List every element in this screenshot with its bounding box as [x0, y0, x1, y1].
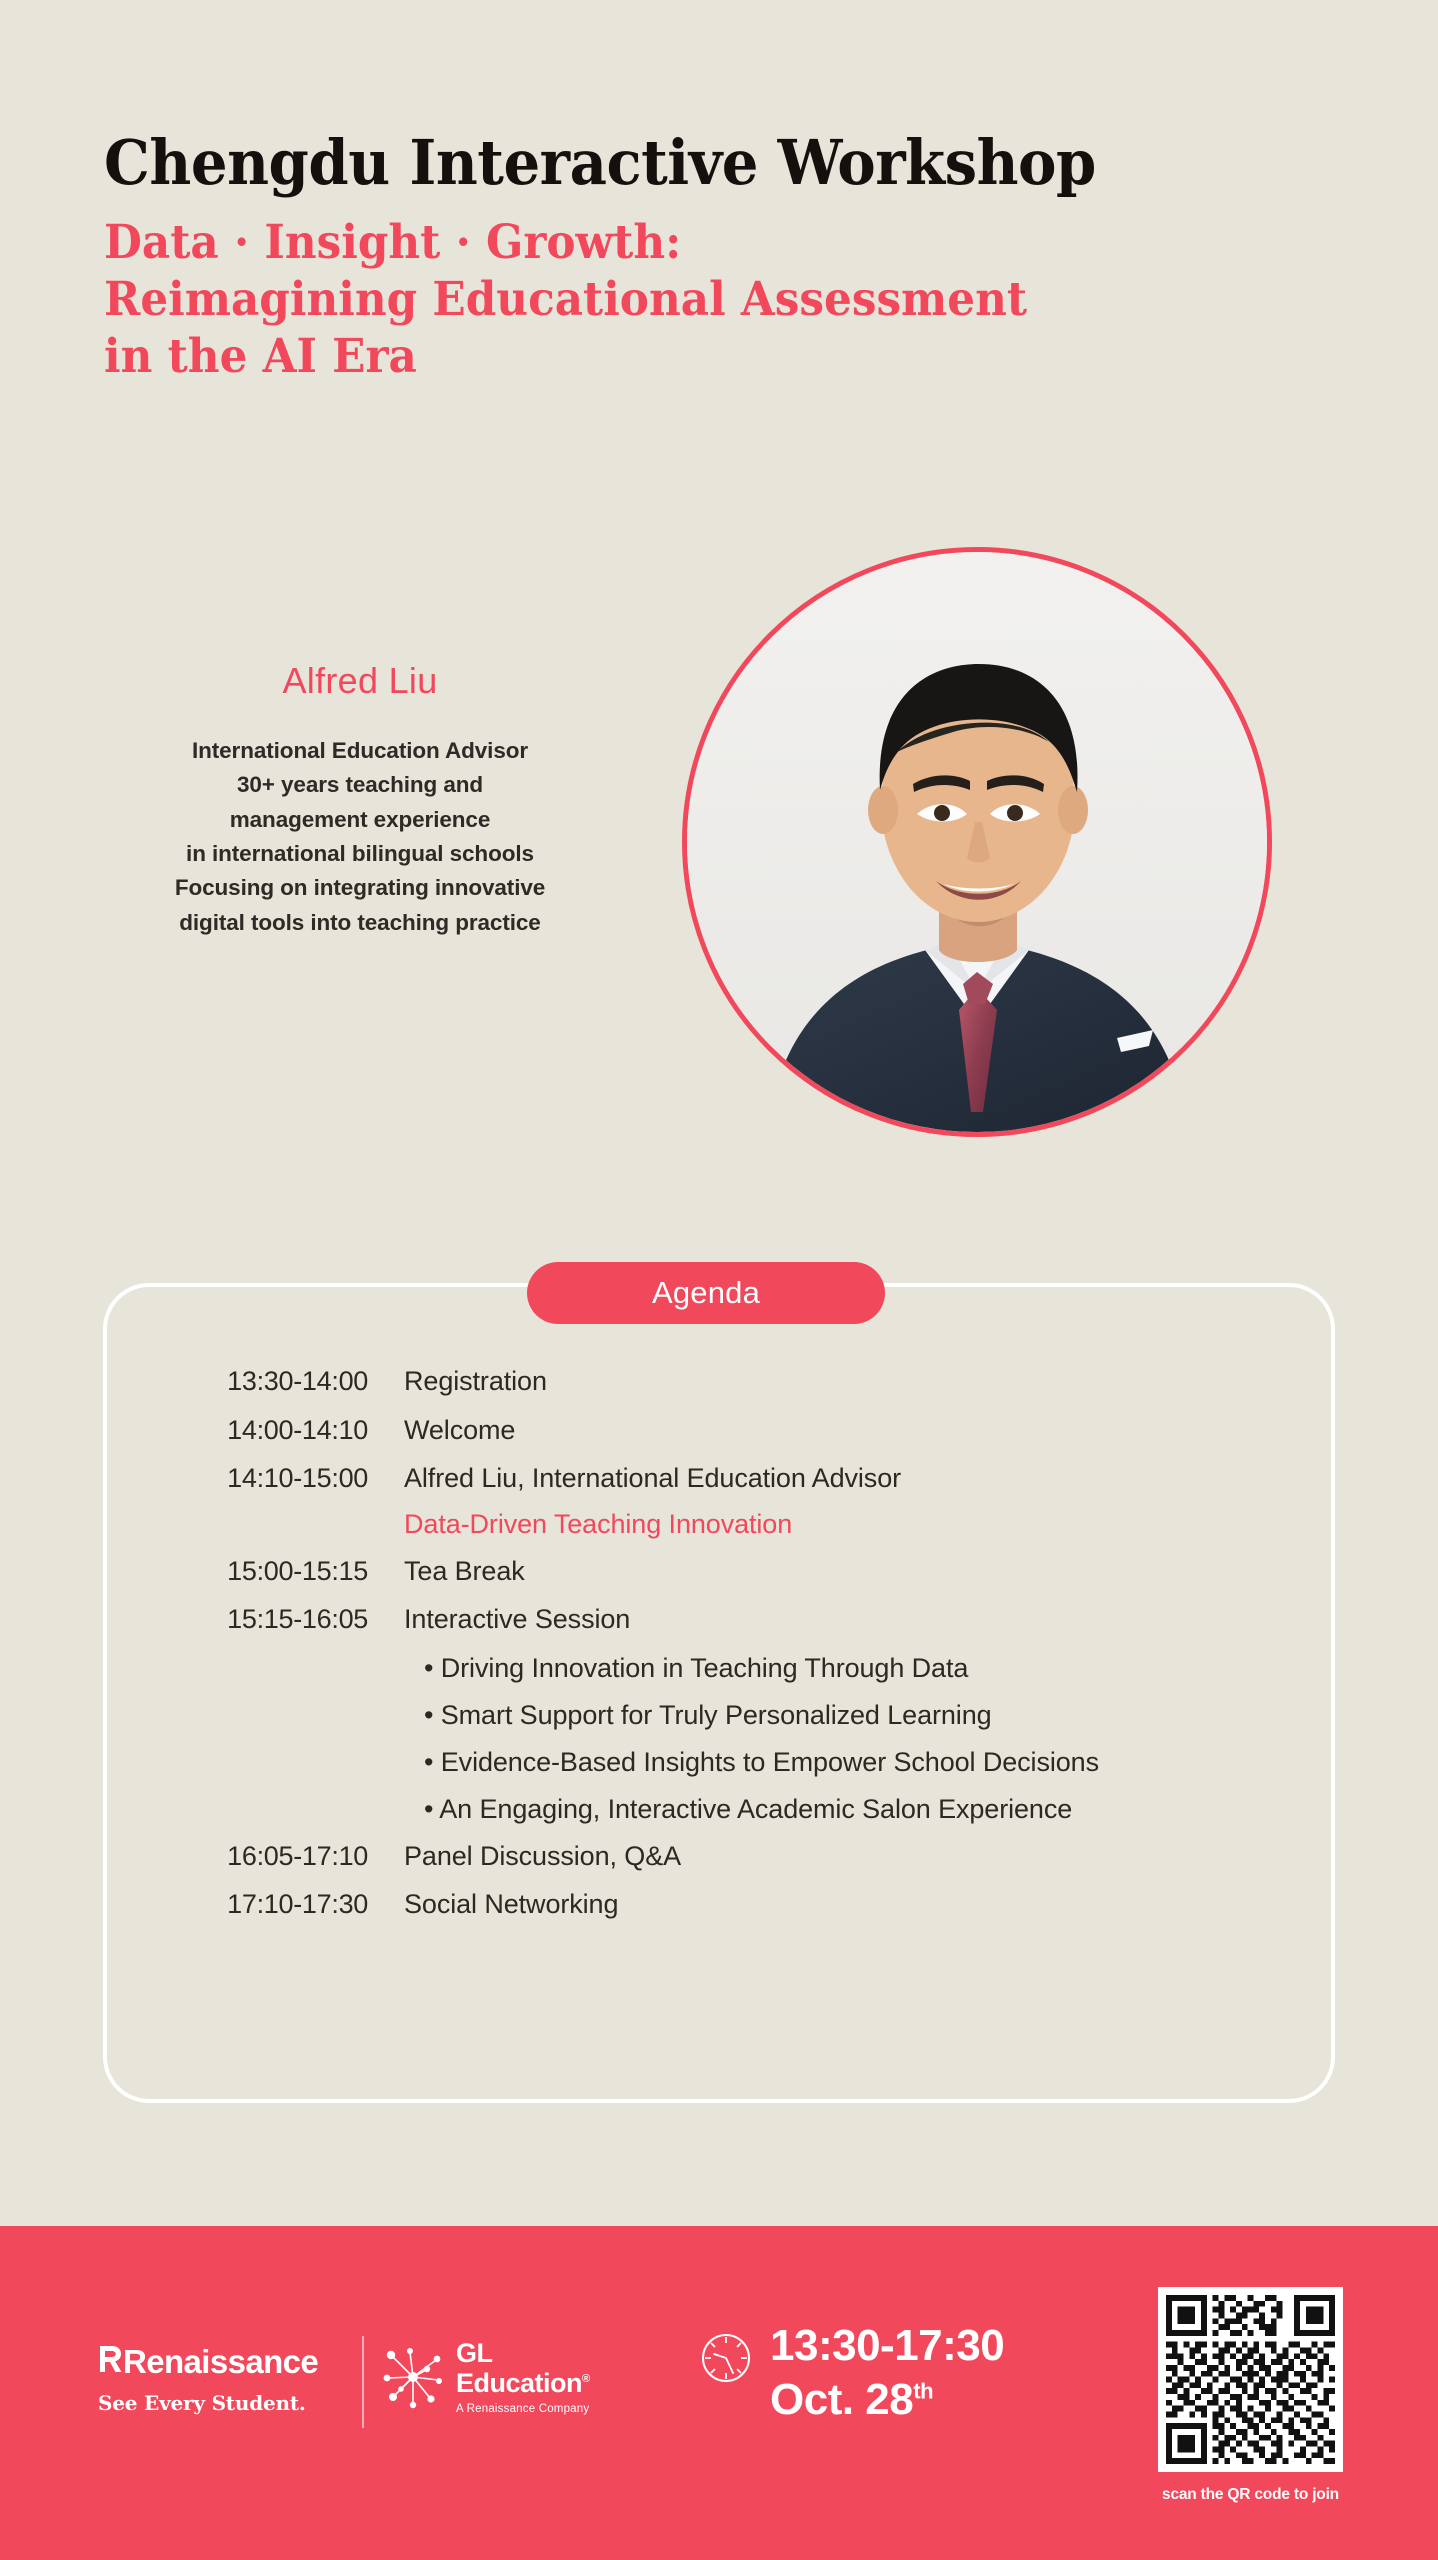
- clock-icon: [700, 2332, 752, 2384]
- page-title: Chengdu Interactive Workshop: [104, 130, 1276, 196]
- agenda-row: • An Engaging, Interactive Academic Salo…: [103, 1794, 1335, 1825]
- speaker-bio: International Education Advisor 30+ year…: [60, 738, 660, 936]
- agenda-row-desc: Interactive Session: [404, 1604, 630, 1635]
- subtitle-line-3: in the AI Era: [104, 328, 1276, 385]
- gl-line-2: Education®: [456, 2370, 590, 2397]
- agenda-row-desc: Alfred Liu, International Education Advi…: [404, 1463, 901, 1494]
- gl-wordmark: GL Education® A Renaissance Company: [456, 2340, 590, 2416]
- agenda-row-desc: Data-Driven Teaching Innovation: [404, 1509, 792, 1540]
- speaker-bio-line: 30+ years teaching and: [60, 772, 660, 798]
- speaker-bio-line: digital tools into teaching practice: [60, 910, 660, 936]
- agenda-row-time: 15:15-16:05: [163, 1604, 368, 1635]
- agenda-row: • Smart Support for Truly Personalized L…: [103, 1700, 1335, 1731]
- speaker-name: Alfred Liu: [60, 660, 660, 702]
- agenda-row: 15:15-16:05Interactive Session: [103, 1604, 1335, 1635]
- agenda-row-time: 14:10-15:00: [163, 1463, 368, 1494]
- agenda-row-desc: • Evidence-Based Insights to Empower Sch…: [424, 1747, 1099, 1778]
- agenda-row-desc: • Smart Support for Truly Personalized L…: [424, 1700, 992, 1731]
- speaker-bio-line: in international bilingual schools: [60, 841, 660, 867]
- speaker-bio-line: International Education Advisor: [60, 738, 660, 764]
- renaissance-r-icon: [98, 2344, 122, 2374]
- subtitle-line-1: Data · Insight · Growth:: [104, 214, 1276, 271]
- agenda-row-time: 13:30-14:00: [163, 1366, 368, 1397]
- event-date-suffix: th: [913, 2378, 933, 2403]
- renaissance-logo: Renaissance See Every Student.: [98, 2344, 338, 2415]
- agenda-row-desc: • An Engaging, Interactive Academic Salo…: [424, 1794, 1072, 1825]
- speaker-section: Alfred Liu International Education Advis…: [0, 520, 1438, 1140]
- agenda-row-desc: Panel Discussion, Q&A: [404, 1841, 681, 1872]
- speaker-info: Alfred Liu International Education Advis…: [60, 660, 660, 944]
- agenda-row: Data-Driven Teaching Innovation: [103, 1509, 1335, 1540]
- speaker-bio-line: Focusing on integrating innovative: [60, 875, 660, 901]
- renaissance-wordmark: Renaissance: [98, 2344, 338, 2379]
- agenda-row: 13:30-14:00Registration: [103, 1366, 1335, 1397]
- agenda-row: • Evidence-Based Insights to Empower Sch…: [103, 1747, 1335, 1778]
- portrait-illustration: [687, 552, 1267, 1132]
- gl-education-logo: GL Education® A Renaissance Company: [380, 2340, 590, 2416]
- clock-icon-svg: [700, 2332, 752, 2384]
- agenda-row-time: 16:05-17:10: [163, 1841, 368, 1872]
- gl-registered-mark: ®: [582, 2373, 590, 2385]
- speaker-portrait: [682, 547, 1272, 1137]
- gl-line-2-text: Education: [456, 2368, 582, 2398]
- qr-code-svg: [1166, 2295, 1335, 2464]
- agenda-row-desc: Tea Break: [404, 1556, 525, 1587]
- gl-line-3: A Renaissance Company: [456, 2404, 590, 2416]
- starburst-icon: [380, 2344, 446, 2410]
- agenda-list: 13:30-14:00Registration14:00-14:10Welcom…: [103, 1366, 1335, 1938]
- gl-line-1: GL: [456, 2340, 590, 2367]
- renaissance-tagline: See Every Student.: [98, 2391, 338, 2415]
- agenda-row: 14:00-14:10Welcome: [103, 1415, 1335, 1446]
- poster-header: Chengdu Interactive Workshop Data · Insi…: [104, 130, 1364, 386]
- event-time-text: 13:30-17:30 Oct. 28th: [770, 2322, 1004, 2423]
- event-time-block: 13:30-17:30 Oct. 28th: [700, 2322, 1004, 2423]
- agenda-row-desc: • Driving Innovation in Teaching Through…: [424, 1653, 968, 1684]
- agenda-title-pill: Agenda: [527, 1262, 885, 1324]
- event-date-text: Oct. 28: [770, 2375, 913, 2424]
- renaissance-wordmark-text: Renaissance: [123, 2345, 318, 2378]
- qr-caption: scan the QR code to join: [1158, 2486, 1343, 2504]
- agenda-row-desc: Registration: [404, 1366, 547, 1397]
- agenda-row-time: 17:10-17:30: [163, 1889, 368, 1920]
- speaker-bio-line: management experience: [60, 807, 660, 833]
- agenda-row-desc: Social Networking: [404, 1889, 618, 1920]
- agenda-row: 15:00-15:15Tea Break: [103, 1556, 1335, 1587]
- qr-code[interactable]: [1158, 2287, 1343, 2472]
- starburst-icon-svg: [380, 2344, 446, 2410]
- logo-divider: [362, 2336, 364, 2428]
- agenda-row: 16:05-17:10Panel Discussion, Q&A: [103, 1841, 1335, 1872]
- agenda-row-desc: Welcome: [404, 1415, 515, 1446]
- page-subtitle: Data · Insight · Growth: Reimagining Edu…: [104, 214, 1276, 386]
- event-time: 13:30-17:30: [770, 2322, 1004, 2370]
- event-date: Oct. 28th: [770, 2376, 1004, 2424]
- agenda-row: 14:10-15:00Alfred Liu, International Edu…: [103, 1463, 1335, 1494]
- agenda-row: • Driving Innovation in Teaching Through…: [103, 1653, 1335, 1684]
- poster-root: Chengdu Interactive Workshop Data · Insi…: [0, 0, 1438, 2560]
- qr-section: scan the QR code to join: [1158, 2287, 1343, 2504]
- renaissance-r-glyph: [98, 2344, 122, 2379]
- agenda-row: 17:10-17:30Social Networking: [103, 1889, 1335, 1920]
- agenda-row-time: 15:00-15:15: [163, 1556, 368, 1587]
- agenda-row-time: 14:00-14:10: [163, 1415, 368, 1446]
- subtitle-line-2: Reimagining Educational Assessment: [104, 271, 1276, 328]
